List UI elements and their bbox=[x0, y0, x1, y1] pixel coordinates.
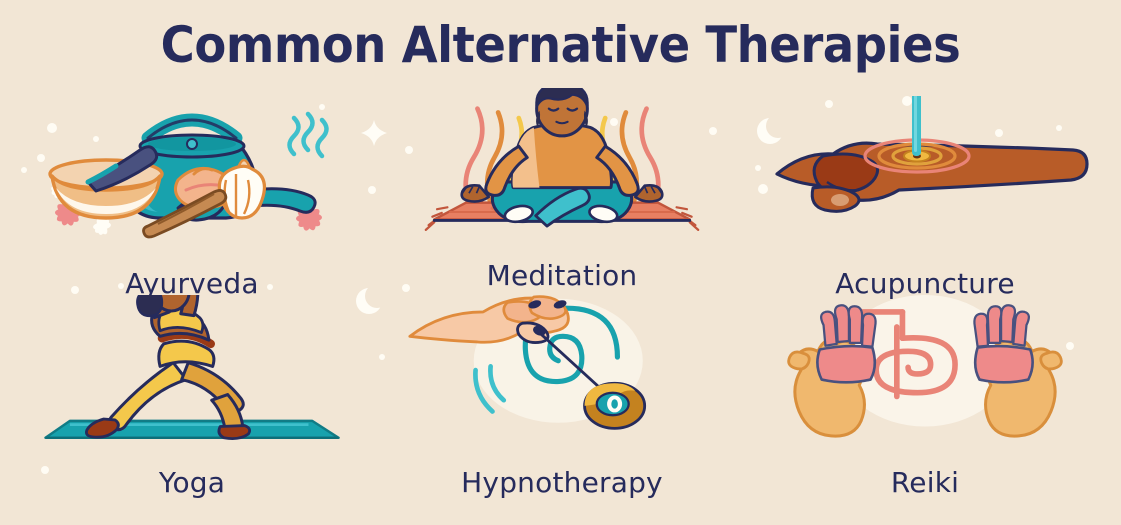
hand-right bbox=[974, 305, 1061, 436]
therapy-label-hypnotherapy: Hypnotherapy bbox=[392, 466, 732, 499]
therapy-label-yoga: Yoga bbox=[22, 466, 362, 499]
meditation-icon bbox=[392, 88, 732, 243]
page-title: Common Alternative Therapies bbox=[39, 16, 1082, 74]
infographic-poster: Common Alternative Therapies bbox=[0, 0, 1121, 525]
acupuncture-icon bbox=[755, 96, 1095, 251]
therapy-card-hypnotherapy[interactable]: Hypnotherapy bbox=[392, 295, 732, 495]
fingers bbox=[504, 297, 566, 323]
back-leg bbox=[109, 363, 187, 430]
reiki-icon bbox=[755, 295, 1095, 450]
hand-left bbox=[789, 305, 876, 436]
therapy-label-meditation: Meditation bbox=[392, 259, 732, 292]
therapy-card-reiki[interactable]: Reiki bbox=[755, 295, 1095, 495]
sparkle-star-icon bbox=[361, 120, 387, 146]
therapy-card-ayurveda[interactable]: Ayurveda bbox=[22, 96, 362, 296]
background-speck bbox=[368, 186, 376, 194]
hair-bun bbox=[137, 295, 162, 316]
therapy-card-acupuncture[interactable]: Acupuncture bbox=[755, 96, 1095, 296]
therapy-card-yoga[interactable]: Yoga bbox=[22, 295, 362, 495]
yoga-icon bbox=[22, 295, 362, 450]
ayurveda-icon bbox=[22, 96, 362, 251]
front-foot bbox=[219, 426, 250, 439]
steam-squiggles bbox=[290, 114, 327, 156]
therapy-card-meditation[interactable]: Meditation bbox=[392, 88, 732, 288]
therapy-label-reiki: Reiki bbox=[755, 466, 1095, 499]
garlic-body bbox=[219, 166, 264, 218]
hypnotherapy-icon bbox=[392, 295, 732, 450]
background-speck bbox=[379, 354, 385, 360]
